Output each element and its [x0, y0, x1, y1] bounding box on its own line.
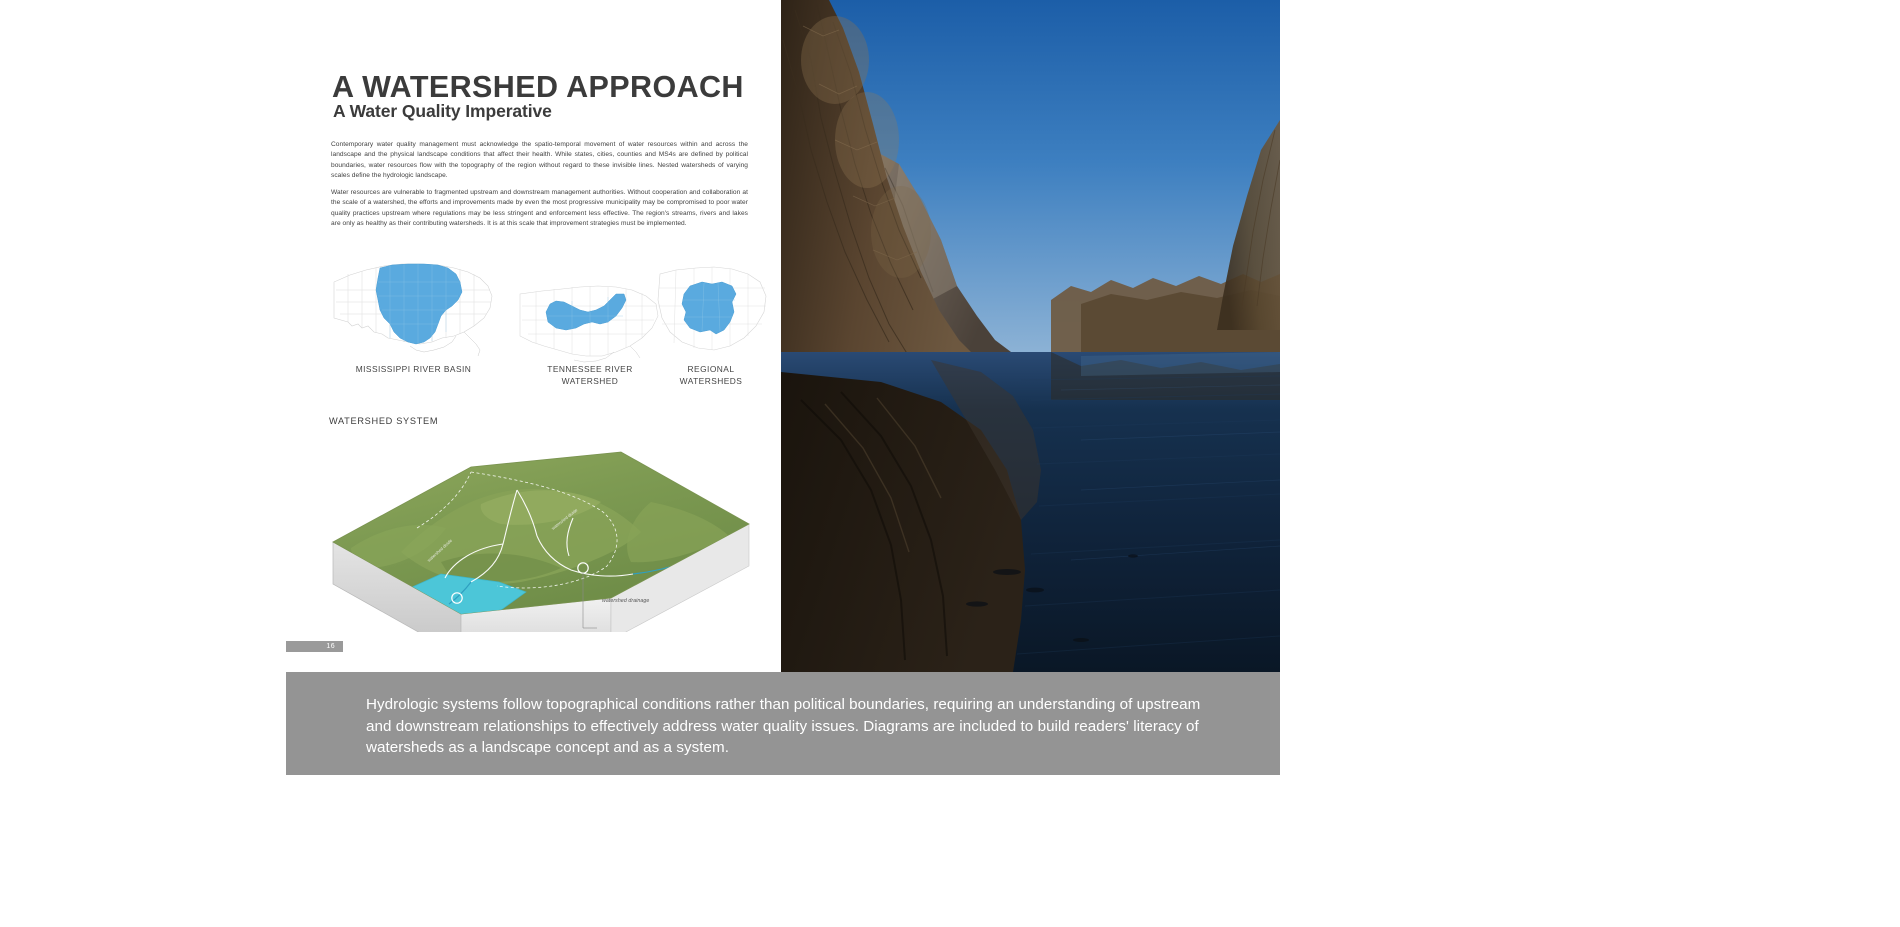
map-label-mississippi: MISSISSIPPI RIVER BASIN [316, 364, 511, 376]
caption-bar: Hydrologic systems follow topographical … [286, 672, 1280, 775]
watershed-drainage-annotation: watershed drainage [602, 598, 649, 604]
page-subtitle: A Water Quality Imperative [333, 101, 552, 122]
map-figure-row: MISSISSIPPI RIVER BASIN TENNESSEE RIVERW… [286, 252, 781, 392]
document-page-left: A WATERSHED APPROACH A Water Quality Imp… [286, 0, 781, 672]
map-label-regional: REGIONALWATERSHEDS [641, 364, 781, 387]
screenshot-root: A WATERSHED APPROACH A Water Quality Imp… [0, 0, 1900, 927]
watershed-system-diagram: watershed divide watershed divide [321, 432, 761, 632]
us-map-mississippi-basin-icon [328, 252, 498, 364]
us-map-tennessee-watershed-icon [514, 272, 666, 372]
caption-text: Hydrologic systems follow topographical … [366, 694, 1211, 759]
body-paragraph-2: Water resources are vulnerable to fragme… [331, 188, 748, 229]
page-number-badge: 16 [286, 641, 343, 652]
body-paragraph-1: Contemporary water quality management mu… [331, 140, 748, 181]
us-map-regional-watersheds-icon [652, 260, 772, 368]
river-landscape-photo [781, 0, 1280, 672]
page-title: A WATERSHED APPROACH [332, 70, 744, 105]
watershed-system-heading: WATERSHED SYSTEM [329, 416, 438, 426]
